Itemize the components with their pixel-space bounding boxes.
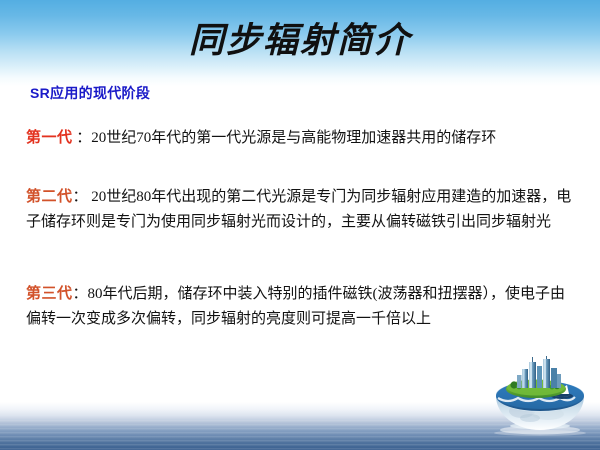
paragraph-generation-3: 第三代：80年代后期，储存环中装入特别的插件磁铁(波荡器和扭摆器），使电子由偏转… bbox=[26, 282, 578, 332]
generation-1-label: 第一代 bbox=[26, 130, 73, 146]
paragraph-generation-2: 第二代： 20世纪80年代出现的第二代光源是专门为同步辐射应用建造的加速器，电子… bbox=[26, 185, 578, 235]
generation-2-body: ： 20世纪80年代出现的第二代光源是专门为同步辐射应用建造的加速器，电子储存环… bbox=[26, 189, 571, 230]
generation-2-label: 第二代 bbox=[26, 189, 73, 205]
generation-3-label: 第三代 bbox=[26, 286, 73, 302]
presentation-slide: 同步辐射简介 SR应用的现代阶段 第一代 ：20世纪70年代的第一代光源是与高能… bbox=[0, 0, 600, 450]
generation-1-body: ：20世纪70年代的第一代光源是与高能物理加速器共用的储存环 bbox=[73, 130, 497, 146]
earth-city-globe-icon bbox=[486, 356, 594, 438]
page-title: 同步辐射简介 bbox=[0, 18, 600, 64]
generation-3-body: ：80年代后期，储存环中装入特别的插件磁铁(波荡器和扭摆器），使电子由偏转一次变… bbox=[26, 286, 565, 327]
paragraph-generation-1: 第一代 ：20世纪70年代的第一代光源是与高能物理加速器共用的储存环 bbox=[26, 126, 578, 151]
slide-subtitle: SR应用的现代阶段 bbox=[30, 83, 150, 103]
